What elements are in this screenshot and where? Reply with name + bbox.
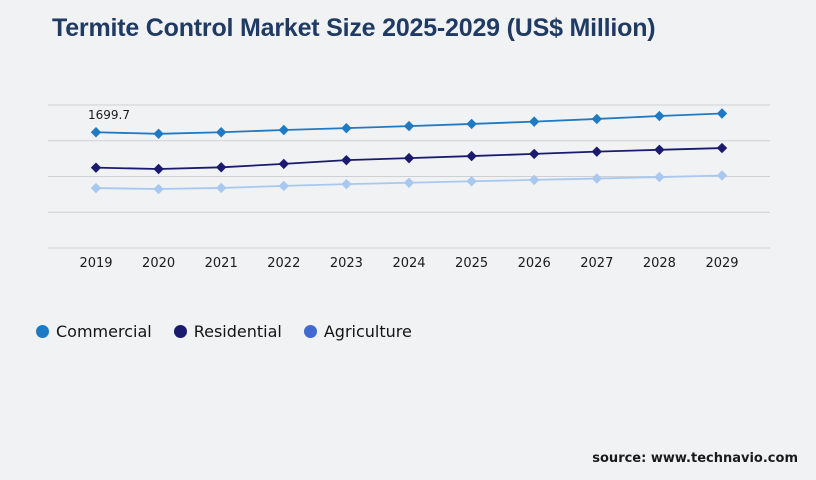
data-point-label: 1699.7 [88,108,130,122]
x-axis-tick-label: 2022 [267,256,300,271]
x-axis-tick-label: 2019 [79,256,112,271]
data-point-marker [91,127,101,137]
legend-item-commercial[interactable]: Commercial [36,322,152,341]
data-point-marker [717,170,727,180]
data-point-marker [466,176,476,186]
data-point-marker [466,151,476,161]
data-point-marker [279,125,289,135]
x-axis-tick-label: 2023 [330,256,363,271]
circle-icon [304,325,317,338]
source-note: source: www.technavio.com [592,451,798,466]
x-axis-tick-label: 2020 [142,256,175,271]
data-point-marker [279,159,289,169]
data-point-marker [341,179,351,189]
data-point-marker [216,183,226,193]
data-point-marker [466,119,476,129]
series-agriculture [91,170,727,194]
data-point-marker [654,172,664,182]
plot-area [48,96,770,252]
data-point-marker [529,116,539,126]
series-commercial [91,108,727,139]
x-axis-tick-label: 2026 [518,256,551,271]
chart-container: Termite Control Market Size 2025-2029 (U… [0,0,816,480]
legend-item-label: Commercial [56,322,152,341]
x-axis-labels: 2019202020212022202320242025202620272028… [48,256,770,276]
series-residential [91,143,727,174]
data-point-marker [91,162,101,172]
x-axis-tick-label: 2027 [580,256,613,271]
data-point-marker [153,184,163,194]
legend-item-label: Agriculture [324,322,412,341]
data-point-marker [654,111,664,121]
legend-item-residential[interactable]: Residential [174,322,282,341]
data-point-marker [341,123,351,133]
x-axis-tick-label: 2021 [205,256,238,271]
data-point-marker [592,146,602,156]
circle-icon [174,325,187,338]
data-point-marker [279,181,289,191]
data-point-marker [91,183,101,193]
data-point-marker [529,149,539,159]
data-point-marker [654,145,664,155]
data-point-marker [592,114,602,124]
circle-icon [36,325,49,338]
data-point-marker [216,127,226,137]
x-axis-tick-label: 2028 [643,256,676,271]
x-axis-tick-label: 2029 [705,256,738,271]
legend-item-agriculture[interactable]: Agriculture [304,322,412,341]
x-axis-tick-label: 2025 [455,256,488,271]
data-point-marker [717,143,727,153]
chart-title: Termite Control Market Size 2025-2029 (U… [52,14,655,43]
data-point-marker [153,129,163,139]
data-point-marker [216,162,226,172]
data-point-marker [404,178,414,188]
data-point-marker [592,173,602,183]
data-point-marker [404,153,414,163]
data-point-marker [717,108,727,118]
data-point-marker [404,121,414,131]
data-point-marker [153,164,163,174]
legend-item-label: Residential [194,322,282,341]
plot-svg [48,96,770,252]
data-point-marker [341,155,351,165]
data-series-group [91,108,727,194]
chart-legend: CommercialResidentialAgriculture [36,322,412,341]
x-axis-tick-label: 2024 [392,256,425,271]
